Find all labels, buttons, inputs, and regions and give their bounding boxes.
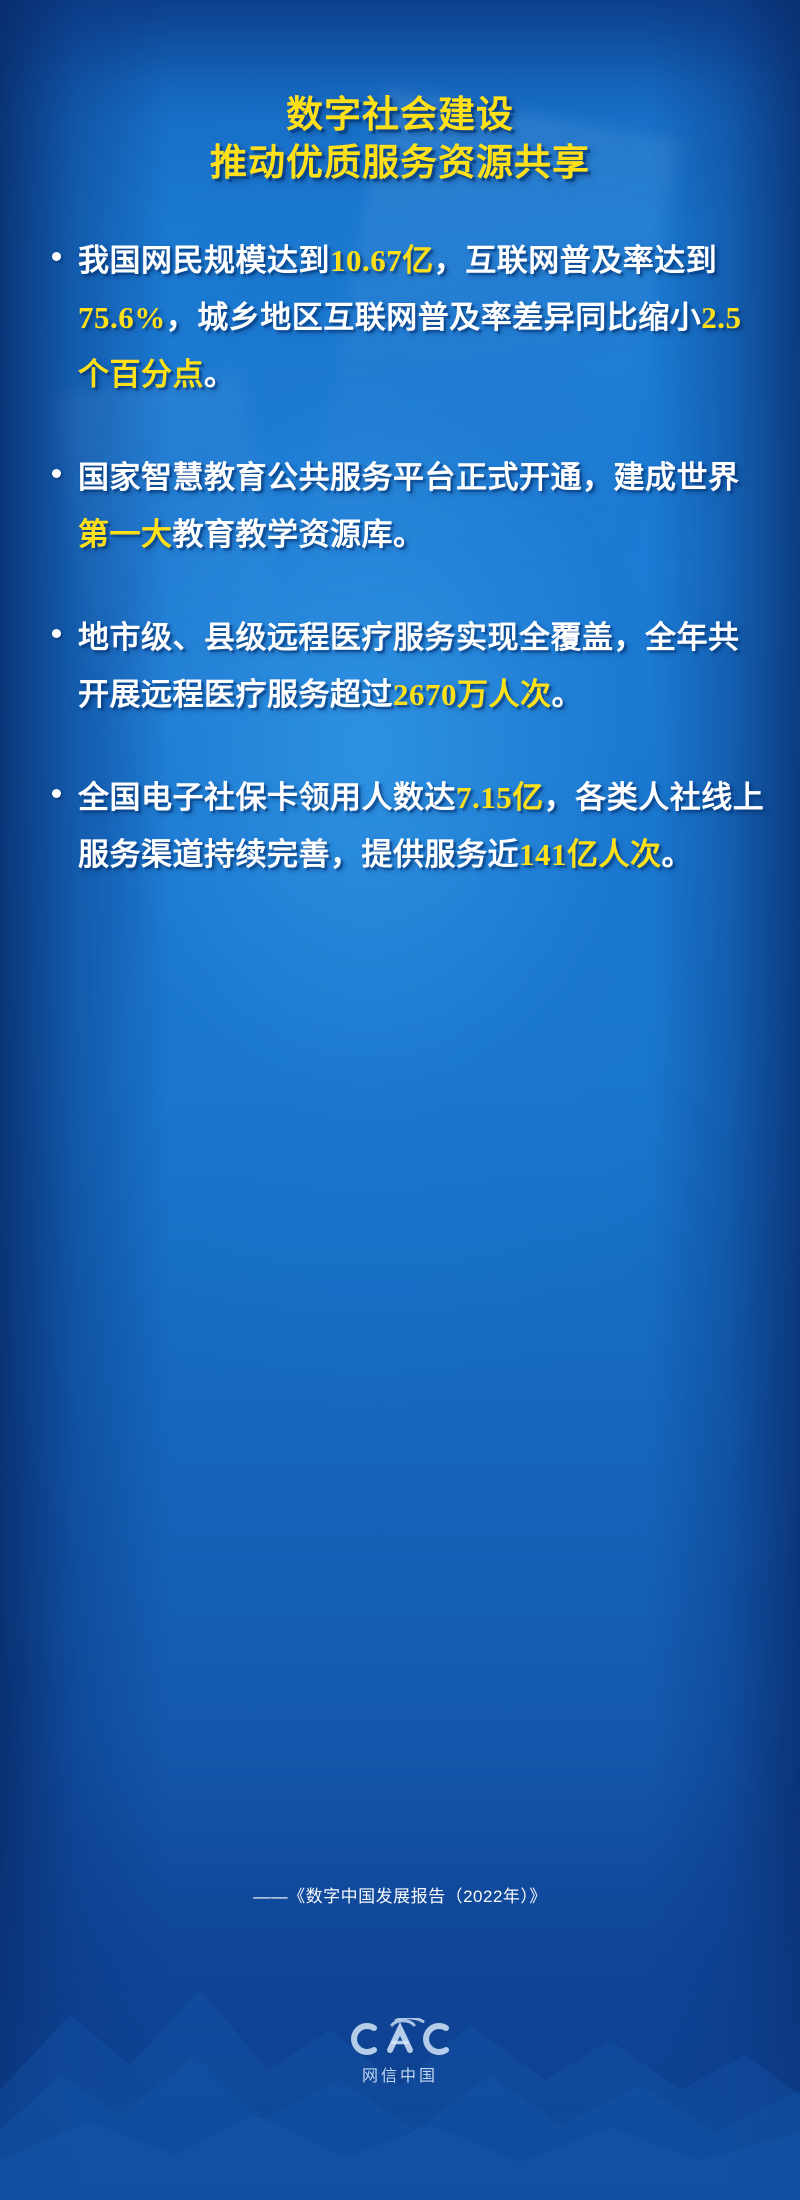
bullet-list: 我国网民规模达到10.67亿，互联网普及率达到75.6%，城乡地区互联网普及率差… xyxy=(0,232,800,883)
bullet-dot-icon xyxy=(52,629,61,638)
body-text-run: 全国电子社保卡领用人数达 xyxy=(78,780,456,815)
body-text-run: 。 xyxy=(662,837,694,872)
body-text-run: 。 xyxy=(552,677,584,712)
cac-logo-subtitle: 网信中国 xyxy=(0,2062,800,2086)
body-text-run: 。 xyxy=(204,357,236,392)
list-item: 我国网民规模达到10.67亿，互联网普及率达到75.6%，城乡地区互联网普及率差… xyxy=(44,232,770,403)
list-item: 地市级、县级远程医疗服务实现全覆盖，全年共开展远程医疗服务超过2670万人次。 xyxy=(44,609,770,723)
highlighted-figure: 7.15亿 xyxy=(456,780,544,815)
body-text-run: 国家智慧教育公共服务平台正式开通，建成世界 xyxy=(78,460,740,495)
highlighted-figure: 141亿人次 xyxy=(519,837,662,872)
bullet-text: 我国网民规模达到10.67亿，互联网普及率达到75.6%，城乡地区互联网普及率差… xyxy=(78,232,770,403)
highlighted-figure: 10.67亿 xyxy=(330,243,434,278)
highlighted-figure: 2670万人次 xyxy=(393,677,552,712)
bullet-text: 地市级、县级远程医疗服务实现全覆盖，全年共开展远程医疗服务超过2670万人次。 xyxy=(78,609,770,723)
list-item: 国家智慧教育公共服务平台正式开通，建成世界第一大教育教学资源库。 xyxy=(44,449,770,563)
poster-title: 数字社会建设 推动优质服务资源共享 xyxy=(0,0,800,188)
title-line-1: 数字社会建设 xyxy=(0,92,800,140)
bullet-dot-icon xyxy=(52,789,61,798)
bullet-text: 国家智慧教育公共服务平台正式开通，建成世界第一大教育教学资源库。 xyxy=(78,449,770,563)
list-item: 全国电子社保卡领用人数达7.15亿，各类人社线上服务渠道持续完善，提供服务近14… xyxy=(44,769,770,883)
bottom-fade-overlay xyxy=(0,1780,800,2200)
body-text-run: 教育教学资源库。 xyxy=(173,517,425,552)
bullet-dot-icon xyxy=(52,252,61,261)
cac-watermark: 网信中国 xyxy=(0,2018,800,2086)
highlighted-figure: 75.6% xyxy=(78,300,166,335)
body-text-run: ，城乡地区互联网普及率差异同比缩小 xyxy=(166,300,702,335)
body-text-run: ，互联网普及率达到 xyxy=(434,243,718,278)
title-line-2: 推动优质服务资源共享 xyxy=(0,140,800,188)
infographic-poster: 数字社会建设 推动优质服务资源共享 我国网民规模达到10.67亿，互联网普及率达… xyxy=(0,0,800,2200)
source-citation: ——《数字中国发展报告（2022年）》 xyxy=(0,1882,800,1907)
body-text-run: 我国网民规模达到 xyxy=(78,243,330,278)
bullet-text: 全国电子社保卡领用人数达7.15亿，各类人社线上服务渠道持续完善，提供服务近14… xyxy=(78,769,770,883)
cac-logo-icon xyxy=(348,2018,452,2060)
bullet-dot-icon xyxy=(52,469,61,478)
highlighted-figure: 第一大 xyxy=(78,517,173,552)
